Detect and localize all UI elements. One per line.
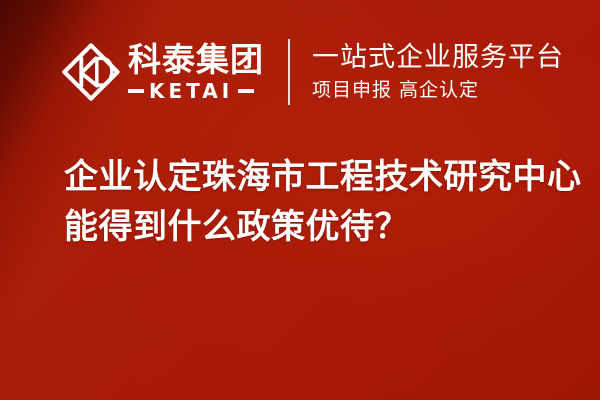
vertical-divider <box>288 39 290 105</box>
headline-line-1: 企业认定珠海市工程技术研究中心 <box>64 152 564 202</box>
tagline-sub: 项目申报 高企认定 <box>312 80 564 101</box>
logo-name-en: KETAI <box>149 81 233 101</box>
logo-dash-left-icon <box>128 89 144 93</box>
headline: 企业认定珠海市工程技术研究中心 能得到什么政策优待？ <box>64 152 564 252</box>
logo-wordmark: 科泰集团 KETAI <box>128 43 264 101</box>
logo-name-cn: 科泰集团 <box>128 43 264 76</box>
logo-name-en-row: KETAI <box>128 81 264 101</box>
ketai-diamond-monogram-icon <box>60 41 122 103</box>
tagline-group: 一站式企业服务平台 项目申报 高企认定 <box>312 43 564 101</box>
brand-header: 科泰集团 KETAI 一站式企业服务平台 项目申报 高企认定 <box>60 34 564 110</box>
promo-banner: 科泰集团 KETAI 一站式企业服务平台 项目申报 高企认定 企业认定珠海市工程… <box>0 0 600 400</box>
logo-dash-right-icon <box>238 89 254 93</box>
tagline-main: 一站式企业服务平台 <box>312 43 564 73</box>
headline-line-2: 能得到什么政策优待？ <box>64 202 564 252</box>
